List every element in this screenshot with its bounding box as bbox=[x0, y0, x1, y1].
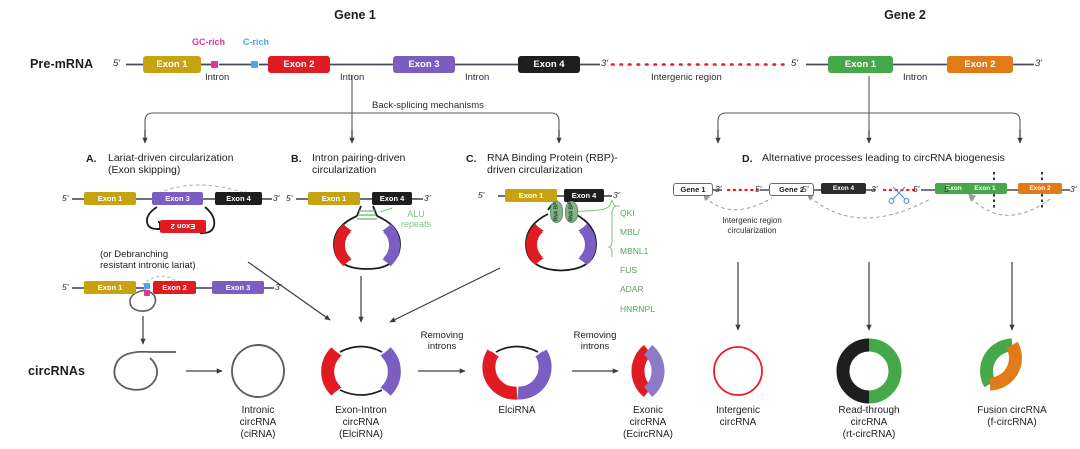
panel-b-title-line1: Intron pairing-driven bbox=[312, 152, 462, 165]
gene2-title: Gene 2 bbox=[860, 8, 950, 22]
panel-d-sub3-three-prime: 3' bbox=[1070, 184, 1076, 194]
removing-introns-2-line2: introns bbox=[561, 341, 629, 352]
row-label-pre-mrna: Pre-mRNA bbox=[30, 57, 93, 71]
gene1-five-prime: 5' bbox=[113, 58, 120, 69]
panel-a-bottom-three-prime: 3' bbox=[275, 282, 281, 292]
gene2-intron-1-label: Intron bbox=[903, 72, 927, 83]
caption-rtcircrna-l3: (rt-circRNA) bbox=[819, 429, 919, 441]
caption-ecircrna-l3: (EcircRNA) bbox=[598, 429, 698, 441]
panel-b-exon-1: Exon 1 bbox=[308, 192, 360, 205]
gc-rich-marker bbox=[211, 61, 218, 68]
gene1-title: Gene 1 bbox=[310, 8, 400, 22]
panel-a-title-line2: (Exon skipping) bbox=[108, 164, 288, 177]
caption-ecircrna: Exonic circRNA (EcircRNA) bbox=[598, 405, 698, 441]
panel-b-exon-4: Exon 4 bbox=[372, 192, 412, 205]
panel-d-letter: D. bbox=[742, 153, 753, 165]
premrna-gene2-exon-1: Exon 1 bbox=[828, 56, 893, 73]
panel-d-gene1-box: Gene 1 bbox=[673, 183, 713, 196]
caption-exon-intron-circrna: Exon-Intron circRNA (ElciRNA) bbox=[311, 405, 411, 441]
panel-a-top-three-prime: 3' bbox=[273, 193, 279, 203]
removing-introns-1-line1: Removing bbox=[408, 330, 476, 341]
panel-a-gc-rich-marker bbox=[144, 290, 150, 296]
panel-d-sub3-five-prime: 5' bbox=[944, 184, 950, 194]
gene1-intron-1-label: Intron bbox=[205, 72, 229, 83]
caption-ecircrna-l1: Exonic bbox=[598, 405, 698, 417]
panel-c-five-prime: 5' bbox=[478, 190, 484, 200]
caption-elcirna-ei-l2: circRNA bbox=[311, 417, 411, 429]
caption-intergenic-l2: circRNA bbox=[688, 417, 788, 429]
panel-d-fusion-exon-2: Exon 2 bbox=[1018, 183, 1062, 194]
caption-elcirna: ElciRNA bbox=[467, 405, 567, 417]
panel-a-top-exon-4: Exon 4 bbox=[215, 192, 262, 205]
gene2-three-prime: 3' bbox=[1035, 58, 1042, 69]
panel-b-five-prime: 5' bbox=[286, 193, 292, 203]
panel-a-c-rich-marker bbox=[144, 283, 150, 289]
panel-a-bottom-exon-1: Exon 1 bbox=[84, 281, 136, 294]
panel-d-sub1-three-prime: 3' bbox=[715, 184, 721, 194]
caption-cirna-l2: circRNA bbox=[208, 417, 308, 429]
caption-f-circrna: Fusion circRNA (f-circRNA) bbox=[954, 405, 1070, 429]
caption-elcirna-ei-l3: (ElciRNA) bbox=[311, 429, 411, 441]
panel-d-sub2-five-left: 5' bbox=[802, 184, 808, 194]
caption-elcirna-l1: ElciRNA bbox=[467, 405, 567, 417]
caption-rt-circrna: Read-through circRNA (rt-circRNA) bbox=[819, 405, 919, 441]
panel-a-bottom-exon-3: Exon 3 bbox=[212, 281, 264, 294]
rbp-protein-icon-right: RNA BP bbox=[565, 201, 578, 223]
gene2-five-prime: 5' bbox=[791, 58, 798, 69]
gene1-intron-2-label: Intron bbox=[340, 72, 364, 83]
alu-label-line1: ALU bbox=[391, 209, 441, 219]
premrna-exon-1: Exon 1 bbox=[143, 56, 201, 73]
panel-b-title-line2: circularization bbox=[312, 164, 462, 177]
removing-introns-1-line2: introns bbox=[408, 341, 476, 352]
back-splicing-label: Back-splicing mechanisms bbox=[372, 100, 484, 111]
panel-a-subnote-line1: (or Debranching bbox=[100, 249, 280, 260]
gc-rich-label: GC-rich bbox=[192, 37, 225, 47]
panel-b-letter: B. bbox=[291, 153, 302, 165]
removing-introns-2-line1: Removing bbox=[561, 330, 629, 341]
rbp-qki: QKI bbox=[620, 208, 635, 218]
panel-c-title-line1: RNA Binding Protein (RBP)- bbox=[487, 152, 677, 165]
figure-canvas: Pre-mRNA circRNAs Gene 1 Gene 2 5' Exon … bbox=[0, 0, 1080, 449]
caption-fcircrna-l1: Fusion circRNA bbox=[954, 405, 1070, 417]
panel-a-top-five-prime: 5' bbox=[62, 193, 68, 203]
rbp-mbnl1: MBNL1 bbox=[620, 246, 648, 256]
premrna-exon-3: Exon 3 bbox=[393, 56, 455, 73]
panel-a-title-line1: Lariat-driven circularization bbox=[108, 152, 288, 165]
row-label-circrnas: circRNAs bbox=[28, 364, 85, 378]
caption-elcirna-ei-l1: Exon-Intron bbox=[311, 405, 411, 417]
caption-ecircrna-l2: circRNA bbox=[598, 417, 698, 429]
panel-d-sub2-five-right: 5' bbox=[913, 184, 919, 194]
panel-a-bottom-five-prime: 5' bbox=[62, 282, 68, 292]
caption-cirna-l3: (ciRNA) bbox=[208, 429, 308, 441]
intergenic-circularization-note-line2: circularization bbox=[692, 226, 812, 235]
intergenic-region-label: Intergenic region bbox=[651, 72, 722, 83]
alu-label-line2: repeats bbox=[391, 219, 441, 229]
rbp-mbl: MBL/ bbox=[620, 227, 640, 237]
panel-d-fusion-exon-1: Exon 1 bbox=[963, 183, 1007, 194]
rbp-oval-label-right: RNA BP bbox=[569, 203, 575, 222]
caption-rtcircrna-l2: circRNA bbox=[819, 417, 919, 429]
panel-a-letter: A. bbox=[86, 153, 97, 165]
panel-c-exon-1: Exon 1 bbox=[505, 189, 557, 202]
rbp-protein-icon-left: RNA BP bbox=[550, 201, 563, 223]
panel-a-skipped-exon-2: Exon 2 bbox=[160, 220, 206, 233]
caption-fcircrna-l2: (f-circRNA) bbox=[954, 417, 1070, 429]
panel-d-title: Alternative processes leading to circRNA… bbox=[762, 152, 1080, 165]
gene1-three-prime: 3' bbox=[601, 58, 608, 69]
premrna-exon-4: Exon 4 bbox=[518, 56, 580, 73]
intergenic-circularization-note-line1: Intergenic region bbox=[692, 216, 812, 225]
rbp-protein-list: QKI MBL/ MBNL1 FUS ADAR HNRNPL bbox=[620, 199, 655, 314]
panel-a-subnote-line2: resistant intronic lariat) bbox=[100, 260, 290, 271]
caption-intergenic-l1: Intergenic bbox=[688, 405, 788, 417]
panel-d-sub1-five-prime: 5' bbox=[755, 184, 761, 194]
caption-cirna: Intronic circRNA (ciRNA) bbox=[208, 405, 308, 441]
rbp-oval-label-left: RNA BP bbox=[554, 203, 560, 222]
caption-cirna-l1: Intronic bbox=[208, 405, 308, 417]
c-rich-label: C-rich bbox=[243, 37, 269, 47]
panel-c-title-line2: driven circularization bbox=[487, 164, 677, 177]
gene1-intron-3-label: Intron bbox=[465, 72, 489, 83]
panel-a-bottom-exon-2: Exon 2 bbox=[153, 281, 196, 294]
panel-b-three-prime: 3' bbox=[424, 193, 430, 203]
panel-d-readthrough-exon-4: Exon 4 bbox=[821, 183, 866, 194]
caption-intergenic-circrna: Intergenic circRNA bbox=[688, 405, 788, 429]
panel-a-top-exon-1: Exon 1 bbox=[84, 192, 136, 205]
rbp-fus: FUS bbox=[620, 265, 637, 275]
rbp-hnrnpl: HNRNPL bbox=[620, 304, 655, 314]
rbp-adar: ADAR bbox=[620, 284, 644, 294]
panel-c-three-prime: 3' bbox=[613, 190, 619, 200]
panel-d-sub2-three-left: 3' bbox=[871, 184, 877, 194]
panel-c-letter: C. bbox=[466, 153, 477, 165]
c-rich-marker bbox=[251, 61, 258, 68]
caption-rtcircrna-l1: Read-through bbox=[819, 405, 919, 417]
premrna-gene2-exon-2: Exon 2 bbox=[947, 56, 1013, 73]
premrna-exon-2: Exon 2 bbox=[268, 56, 330, 73]
panel-a-top-exon-3: Exon 3 bbox=[152, 192, 203, 205]
